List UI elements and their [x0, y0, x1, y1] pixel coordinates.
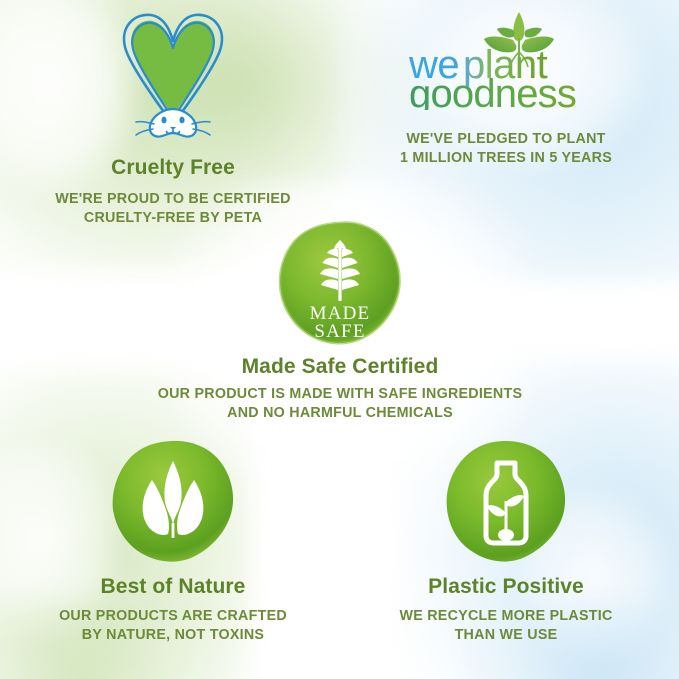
peta-cruelty-free-bunny-heart-icon [110, 8, 236, 145]
best-of-nature-description-line-2: BY NATURE, NOT TOXINS [8, 626, 338, 645]
we-plant-goodness-logo: we plant goodness [401, 8, 611, 110]
best-of-nature-icon-wrap [8, 437, 338, 567]
cruelty-free-description-line-1: WE'RE PROUD TO BE CERTIFIED [8, 190, 338, 209]
we-plant-goodness-description-line-2: 1 MILLION TREES IN 5 YEARS [341, 149, 671, 168]
plastic-positive-icon-wrap [341, 437, 671, 567]
cruelty-free-heading: Cruelty Free [8, 156, 338, 179]
badge-block-cruelty-free: Cruelty Free WE'RE PROUD TO BE CERTIFIED… [8, 8, 338, 228]
we-plant-goodness-description: WE'VE PLEDGED TO PLANT 1 MILLION TREES I… [341, 130, 671, 168]
plastic-positive-description-line-2: THAN WE USE [341, 626, 671, 645]
made-safe-heading: Made Safe Certified [140, 355, 540, 378]
svg-text:goodness: goodness [409, 72, 576, 110]
we-plant-goodness-description-line-1: WE'VE PLEDGED TO PLANT [341, 130, 671, 149]
badge-block-plastic-positive: Plastic Positive WE RECYCLE MORE PLASTIC… [341, 437, 671, 645]
made-safe-description: OUR PRODUCT IS MADE WITH SAFE INGREDIENT… [140, 385, 540, 423]
best-of-nature-description-line-1: OUR PRODUCTS ARE CRAFTED [8, 607, 338, 626]
cruelty-free-icon-wrap [8, 8, 338, 145]
made-safe-description-line-2: AND NO HARMFUL CHEMICALS [140, 404, 540, 423]
badge-block-best-of-nature: Best of Nature OUR PRODUCTS ARE CRAFTED … [8, 437, 338, 645]
three-leaves-badge-icon [108, 437, 238, 567]
bottle-sprout-badge-icon [441, 437, 571, 567]
best-of-nature-heading: Best of Nature [8, 575, 338, 598]
made-safe-icon-wrap: MADE SAFE [140, 218, 540, 348]
plastic-positive-description-line-1: WE RECYCLE MORE PLASTIC [341, 607, 671, 626]
made-safe-badge-text-line-2: SAFE [314, 321, 365, 342]
made-safe-description-line-1: OUR PRODUCT IS MADE WITH SAFE INGREDIENT… [140, 385, 540, 404]
plastic-positive-description: WE RECYCLE MORE PLASTIC THAN WE USE [341, 607, 671, 645]
plastic-positive-heading: Plastic Positive [341, 575, 671, 598]
badge-block-made-safe: MADE SAFE Made Safe Certified OUR PRODUC… [140, 218, 540, 423]
badge-block-we-plant-goodness: we plant goodness WE'VE PLEDGED TO PLANT… [341, 8, 671, 168]
made-safe-leaf-badge-icon: MADE SAFE [275, 218, 405, 348]
sustainability-badges-poster: Cruelty Free WE'RE PROUD TO BE CERTIFIED… [0, 0, 679, 679]
best-of-nature-description: OUR PRODUCTS ARE CRAFTED BY NATURE, NOT … [8, 607, 338, 645]
